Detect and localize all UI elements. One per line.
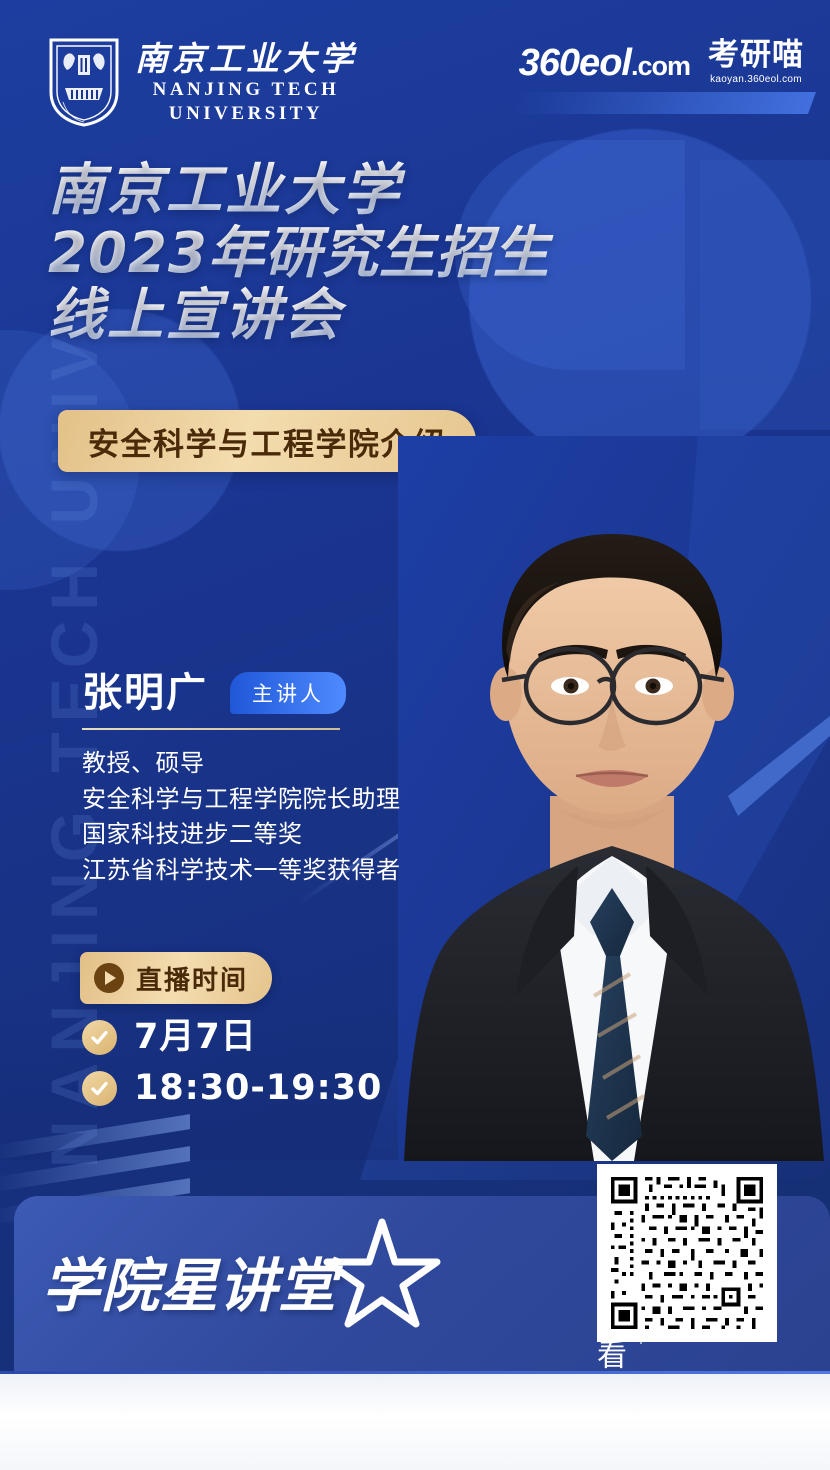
- brand-kaoyanmiao-name: 考研喵: [708, 40, 804, 71]
- brand-kaoyanmiao-logo: 考研喵 kaoyan.360eol.com: [708, 40, 804, 85]
- page-title: 南京工业大学 2023年研究生招生 线上宣讲会: [48, 160, 708, 348]
- brand-360eol-logo: 360eol.com: [519, 40, 690, 82]
- live-time-date: 7月7日: [134, 1020, 257, 1055]
- live-time-badge: 直播时间: [80, 952, 272, 1004]
- speaker-block: 张明广 主讲人 教授、硕导 安全科学与工程学院院长助理 国家科技进步二等奖 江苏…: [82, 672, 432, 887]
- college-badge-label: 安全科学与工程学院介绍: [88, 419, 446, 464]
- speaker-name-row: 张明广 主讲人: [82, 672, 432, 714]
- university-name-en-line1: NANJING TECH: [135, 79, 357, 101]
- brand-logos: 360eol.com 考研喵 kaoyan.360eol.com: [519, 40, 804, 85]
- live-time-badge-label: 直播时间: [136, 960, 248, 997]
- university-name-cn: 南京工业大学: [135, 44, 357, 77]
- live-time-list: 7月7日 18:30-19:30: [82, 1020, 382, 1106]
- live-time-range: 18:30-19:30: [134, 1071, 382, 1106]
- credential-item: 国家科技进步二等奖: [82, 819, 432, 851]
- check-circle-icon: [82, 1071, 117, 1106]
- shield-crest-icon: [47, 36, 121, 129]
- brand-kaoyanmiao-url: kaoyan.360eol.com: [710, 74, 802, 85]
- speaker-role-badge: 主讲人: [230, 672, 346, 714]
- speaker-name: 张明广: [82, 673, 208, 713]
- university-names: 南京工业大学 NANJING TECH UNIVERSITY: [135, 40, 357, 126]
- poster-root: NANJING TECH UNIV: [0, 0, 830, 1470]
- university-name-en-line2: UNIVERSITY: [135, 103, 357, 125]
- check-circle-icon: [82, 1020, 117, 1055]
- title-line-1: 南京工业大学: [48, 160, 708, 223]
- play-icon: [94, 963, 124, 993]
- footer-platforms: 联合推广平台>> 新浪微博 weibo.com: [0, 1374, 830, 1470]
- title-line-3: 线上宣讲会: [48, 285, 708, 348]
- speaker-credentials: 教授、硕导 安全科学与工程学院院长助理 国家科技进步二等奖 江苏省科学技术一等奖…: [82, 748, 432, 887]
- credential-item: 江苏省科学技术一等奖获得者: [82, 855, 432, 887]
- live-time-item: 7月7日: [82, 1020, 382, 1055]
- credential-item: 安全科学与工程学院院长助理: [82, 784, 432, 816]
- credential-item: 教授、硕导: [82, 748, 432, 780]
- program-brand: 学院星讲堂: [42, 1238, 441, 1333]
- star-outline-icon: [323, 1216, 441, 1333]
- speaker-divider: [82, 728, 340, 730]
- speaker-portrait: [398, 436, 830, 1161]
- title-line-2: 2023年研究生招生: [48, 223, 708, 286]
- university-logo: 南京工业大学 NANJING TECH UNIVERSITY: [47, 36, 357, 129]
- qr-code-icon[interactable]: [597, 1164, 777, 1342]
- brand-360eol-domain: .com: [631, 51, 690, 81]
- bg-shape-rect-right: [700, 160, 830, 430]
- poster-header: 南京工业大学 NANJING TECH UNIVERSITY 360eol.co…: [0, 0, 830, 145]
- live-time-item: 18:30-19:30: [82, 1071, 382, 1106]
- brand-underline-decoration: [508, 92, 816, 114]
- program-brand-label: 学院星讲堂: [42, 1257, 337, 1315]
- brand-360eol-name: 360eol: [519, 42, 631, 84]
